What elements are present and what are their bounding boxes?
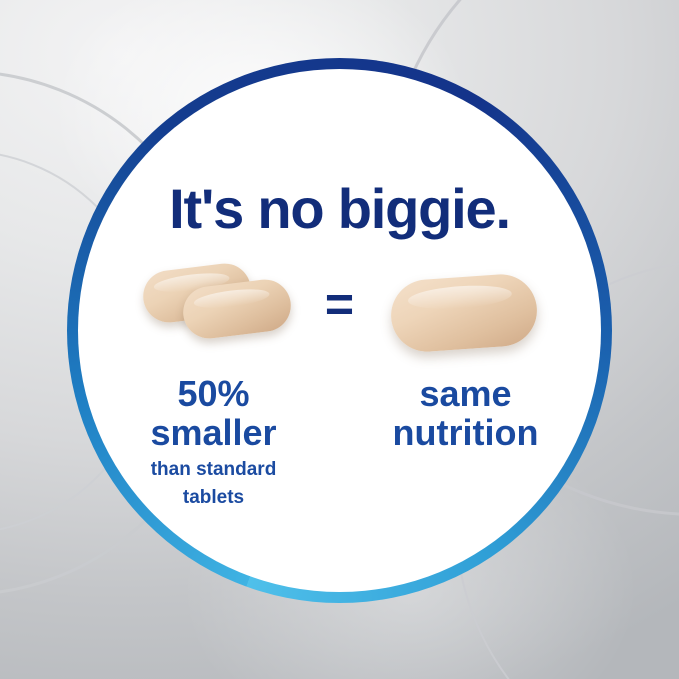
left-caption-line1: 50% (114, 375, 314, 414)
left-caption-sub-line2: tablets (114, 487, 314, 509)
caption-row: 50% smaller than standard tablets same n… (120, 375, 560, 508)
badge-content: It's no biggie. = 50% smaller (78, 69, 601, 592)
left-caption-sub-line1: than standard (114, 459, 314, 481)
left-caption: 50% smaller than standard tablets (114, 375, 314, 508)
headline-text: It's no biggie. (169, 181, 510, 237)
equals-symbol: = (301, 279, 379, 329)
small-tablets-group (141, 265, 301, 357)
tablet-comparison-row: = (78, 265, 601, 357)
tablet-large-icon (388, 272, 539, 354)
right-caption-line2: nutrition (366, 414, 566, 453)
left-caption-line2: smaller (114, 414, 314, 453)
badge-inner-face: It's no biggie. = 50% smaller (78, 69, 601, 592)
large-tablet-group (379, 265, 539, 357)
right-caption-line1: same (366, 375, 566, 414)
product-claim-image: It's no biggie. = 50% smaller (0, 0, 679, 679)
circular-badge: It's no biggie. = 50% smaller (67, 58, 612, 603)
right-caption: same nutrition (366, 375, 566, 453)
